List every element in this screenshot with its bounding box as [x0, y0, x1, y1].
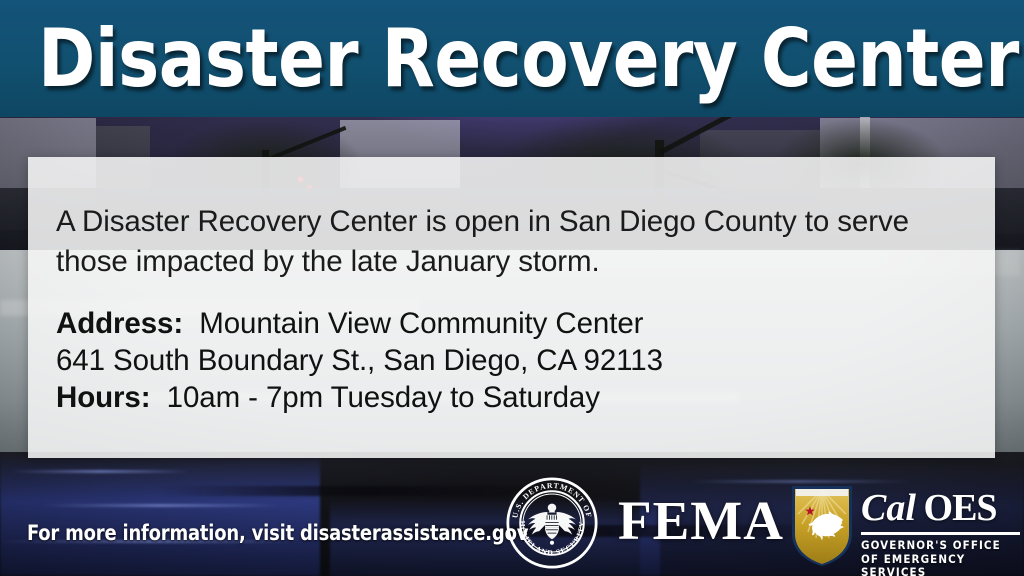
address-street: 641 South Boundary St., San Diego, CA 92…: [56, 342, 966, 379]
disaster-recovery-center-flyer: Disaster Recovery Center A Disaster Reco…: [0, 0, 1024, 576]
address-venue: Mountain View Community Center: [199, 307, 643, 340]
oes-word: OES: [924, 487, 997, 529]
fema-wordmark: FEMA: [618, 491, 784, 551]
address-line: Address: Mountain View Community Center: [56, 305, 966, 342]
california-bear-shield-icon: [791, 484, 853, 566]
hours-value: 10am - 7pm Tuesday to Saturday: [167, 381, 600, 414]
cal-oes-logo: Cal OES GOVERNOR'S OFFICE OF EMERGENCY S…: [791, 484, 1021, 570]
more-information-text: For more information, visit disasterassi…: [27, 521, 528, 546]
cal-oes-divider: [861, 532, 1020, 535]
dhs-seal-icon: U.S. DEPARTMENT OF HOMELAND SECURITY: [506, 477, 598, 569]
cal-oes-sub-line-2: OF EMERGENCY SERVICES: [861, 553, 1021, 576]
cal-oes-wordmark: Cal OES GOVERNOR'S OFFICE OF EMERGENCY S…: [861, 487, 1021, 576]
header-band: Disaster Recovery Center: [0, 0, 1024, 117]
cal-oes-subtitle: GOVERNOR'S OFFICE OF EMERGENCY SERVICES: [861, 539, 1021, 576]
cal-oes-sub-line-1: GOVERNOR'S OFFICE: [861, 539, 1021, 553]
lead-paragraph: A Disaster Recovery Center is open in Sa…: [56, 202, 966, 282]
hours-line: Hours: 10am - 7pm Tuesday to Saturday: [56, 379, 966, 416]
cal-word: Cal: [861, 487, 924, 529]
hours-label: Hours:: [56, 381, 159, 414]
page-title: Disaster Recovery Center: [38, 9, 960, 109]
address-label: Address:: [56, 307, 191, 340]
details-block: Address: Mountain View Community Center …: [56, 305, 966, 416]
info-panel: A Disaster Recovery Center is open in Sa…: [28, 157, 995, 458]
cal-oes-name: Cal OES: [861, 487, 1021, 529]
